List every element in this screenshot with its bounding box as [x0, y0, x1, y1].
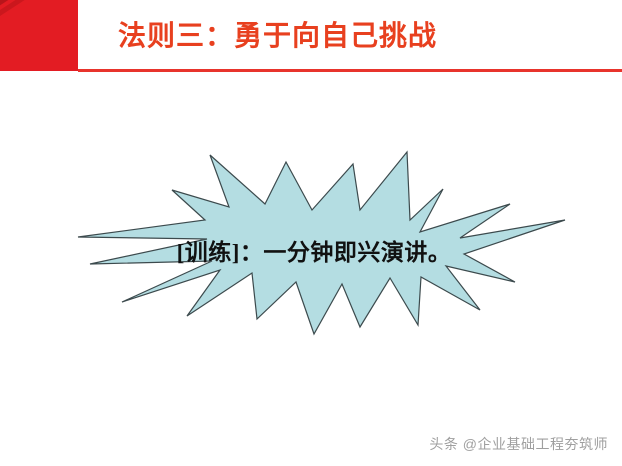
starburst-shape-icon: [60, 142, 580, 354]
watermark-text: 头条 @企业基础工程夯筑师: [429, 434, 608, 454]
slide-header: 法则三：勇于向自己挑战: [0, 0, 622, 74]
header-divider: [78, 69, 622, 72]
header-accent-block: [0, 0, 78, 71]
slide-canvas: 法则三：勇于向自己挑战 [训练]：一分钟即兴演讲。 头条 @企业基础工程夯筑师: [0, 0, 622, 466]
starburst-callout: [训练]：一分钟即兴演讲。: [60, 142, 580, 354]
page-title: 法则三：勇于向自己挑战: [118, 19, 437, 55]
slide-body: [训练]：一分钟即兴演讲。: [0, 74, 622, 424]
accent-stripe-secondary-icon: [0, 0, 72, 35]
